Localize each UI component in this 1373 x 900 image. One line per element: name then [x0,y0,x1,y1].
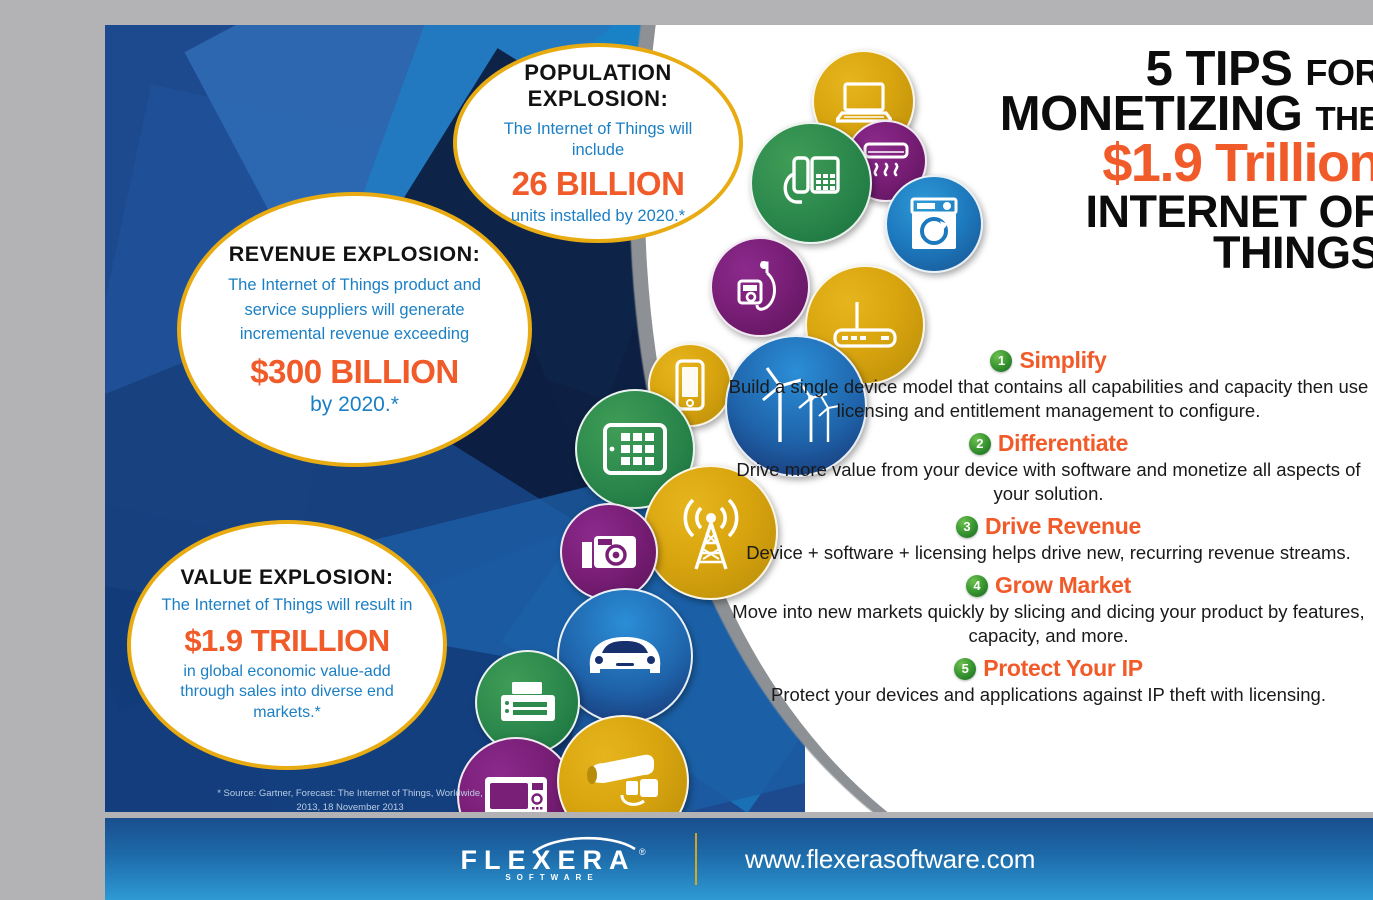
callout-heading: REVENUE EXPLOSION: [229,242,481,267]
smartphone-icon [674,359,706,411]
tip-body: Build a single device model that contain… [717,375,1373,423]
footer-bar: FLEXERA ® SOFTWARE www.flexerasoftware.c… [105,818,1373,900]
tip-number-badge: 2 [969,433,991,455]
tip-title: Drive Revenue [985,513,1141,540]
tip-body: Drive more value from your device with s… [717,458,1373,506]
footer-divider [695,833,697,885]
tip-body: Protect your devices and applications ag… [717,683,1373,707]
callout-heading: VALUE EXPLOSION: [181,566,394,590]
infographic-canvas: POPULATION EXPLOSION: The Internet of Th… [105,25,1373,812]
callout-heading: POPULATION EXPLOSION: [483,60,713,112]
logo-wordmark: FLEXERA [443,845,653,876]
tip-title: Simplify [1019,347,1106,374]
logo-registered-mark: ® [639,847,646,857]
callout-revenue: REVENUE EXPLOSION: The Internet of Thing… [177,192,532,467]
callout-highlight: $1.9 TRILLION [184,623,389,659]
callout-body-before: The Internet of Things will include [483,119,713,160]
tip-title: Grow Market [995,572,1131,599]
source-note: * Source: Gartner, Forecast: The Interne… [210,787,490,812]
tip-header: 2 Differentiate [717,430,1373,457]
washing-machine-icon [909,197,959,251]
tip-header: 1 Simplify [717,347,1373,374]
callout-highlight: 26 BILLION [512,165,685,203]
media-player-icon [733,259,787,315]
tablet-icon [602,422,668,476]
title-line-2: MONETIZING THE [960,92,1373,137]
tip-body: Device + software + licensing helps driv… [717,541,1373,565]
title-line-1: 5 TIPS FOR [960,47,1373,92]
tip-item: 2 Differentiate Drive more value from yo… [717,430,1373,506]
flexera-logo: FLEXERA ® SOFTWARE [443,835,653,883]
tips-list: 1 Simplify Build a single device model t… [717,347,1373,714]
tip-title: Differentiate [998,430,1128,457]
tip-number-badge: 4 [966,575,988,597]
title-the: THE [1316,100,1373,137]
tip-header: 5 Protect Your IP [717,655,1373,682]
tip-body: Move into new markets quickly by slicing… [717,600,1373,648]
printer-icon [499,680,557,726]
device-circle-camera [560,503,658,601]
tip-header: 3 Drive Revenue [717,513,1373,540]
laptop-icon [836,80,892,124]
tip-title: Protect Your IP [983,655,1143,682]
desk-phone-icon [778,152,844,214]
callout-body-after: by 2020.* [310,393,399,417]
device-circle-desk-phone [750,122,872,244]
callout-body-after: units installed by 2020.* [511,207,685,226]
callout-body-before: The Internet of Things will result in [162,595,413,616]
title-amount: $1.9 Trillion [960,139,1373,189]
tip-number-badge: 3 [956,516,978,538]
infographic-root: POPULATION EXPLOSION: The Internet of Th… [0,0,1373,900]
tip-item: 3 Drive Revenue Device + software + lice… [717,513,1373,565]
tip-item: 4 Grow Market Move into new markets quic… [717,572,1373,648]
title-iot: INTERNET OF THINGS [960,191,1373,274]
footer-url[interactable]: www.flexerasoftware.com [745,844,1035,875]
camera-icon [580,532,638,572]
logo-subtext: SOFTWARE [443,873,661,882]
tip-number-badge: 5 [954,658,976,680]
device-circle-media-player [710,237,810,337]
tip-number-badge: 1 [990,350,1012,372]
router-icon [831,296,899,354]
security-camera-icon [582,751,664,811]
callout-body-after: in global economic value-add through sal… [157,662,417,724]
tip-header: 4 Grow Market [717,572,1373,599]
callout-population: POPULATION EXPLOSION: The Internet of Th… [453,43,743,243]
tip-item: 1 Simplify Build a single device model t… [717,347,1373,423]
tip-item: 5 Protect Your IP Protect your devices a… [717,655,1373,707]
callout-value: VALUE EXPLOSION: The Internet of Things … [127,520,447,770]
car-icon [582,627,668,685]
callout-highlight: $300 BILLION [250,353,459,391]
page-title: 5 TIPS FOR MONETIZING THE $1.9 Trillion … [960,47,1373,274]
callout-body-before: The Internet of Things product and servi… [211,273,498,347]
microwave-icon [483,774,549,812]
